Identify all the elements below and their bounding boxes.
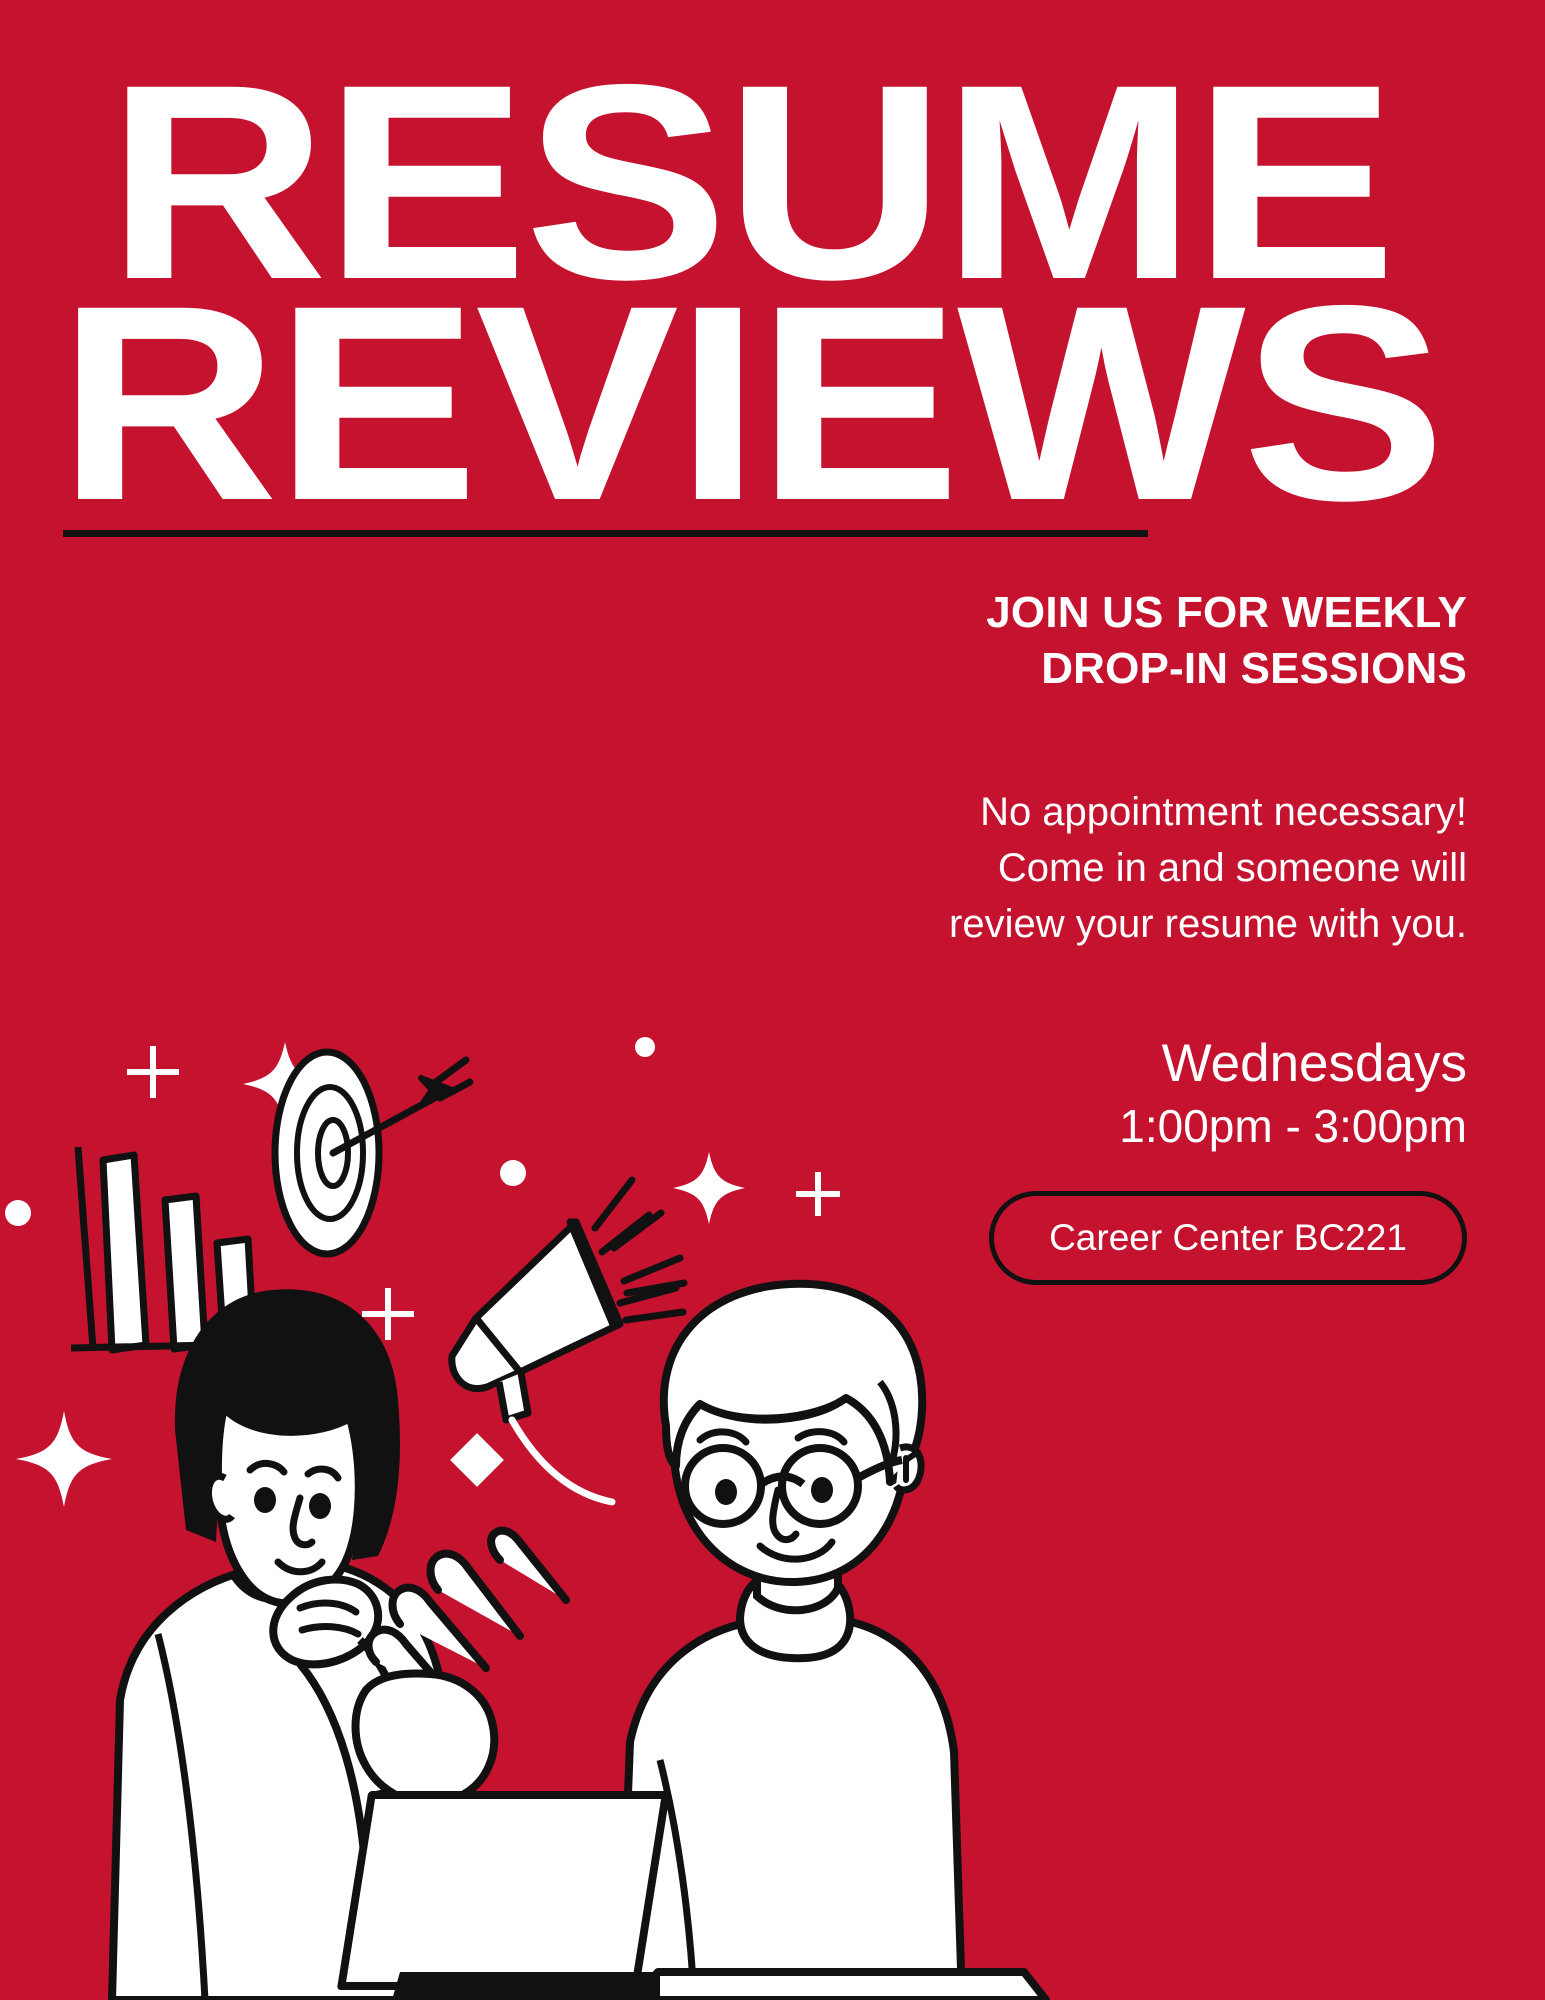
subtitle-line-1: JOIN US FOR WEEKLY [777,585,1467,641]
plus-spark-icon [150,1046,156,1098]
body-line-3: review your resume with you. [777,896,1467,952]
bar-chart-axis [78,1147,93,1348]
subtitle: JOIN US FOR WEEKLY DROP-IN SESSIONS [777,585,1467,698]
person-thinking-illustration [112,1289,452,2000]
sparkle-group [5,1037,840,1507]
title-divider [63,530,1148,537]
subtitle-line-2: DROP-IN SESSIONS [777,641,1467,697]
location-pill[interactable]: Career Center BC221 [989,1191,1467,1285]
body-copy: No appointment necessary! Come in and so… [777,784,1467,952]
megaphone-icon [452,1180,684,1502]
body-line-2: Come in and someone will [777,840,1467,896]
title-line-2: REVIEWS [0,283,1531,522]
schedule-block: Wednesdays 1:00pm - 3:00pm [777,1034,1467,1157]
bar-chart-icon [103,1155,254,1350]
target-with-arrow-icon [275,1052,470,1254]
info-column: JOIN US FOR WEEKLY DROP-IN SESSIONS No a… [777,585,1467,1285]
person-with-glasses-illustration [356,1284,963,2000]
dot-spark-icon [5,1200,31,1226]
page-title: RESUME REVIEWS [40,62,1460,522]
sparkle-4-point-icon [243,1042,327,1126]
laptop-illustration [341,1795,1046,2000]
schedule-time: 1:00pm - 3:00pm [777,1097,1467,1157]
body-line-1: No appointment necessary! [777,784,1467,840]
bar-chart-baseline [71,1344,262,1348]
poster-canvas: RESUME REVIEWS JOIN US FOR WEEKLY DROP-I… [0,0,1545,2000]
location-pill-label: Career Center BC221 [1049,1217,1407,1259]
schedule-day: Wednesdays [777,1034,1467,1093]
